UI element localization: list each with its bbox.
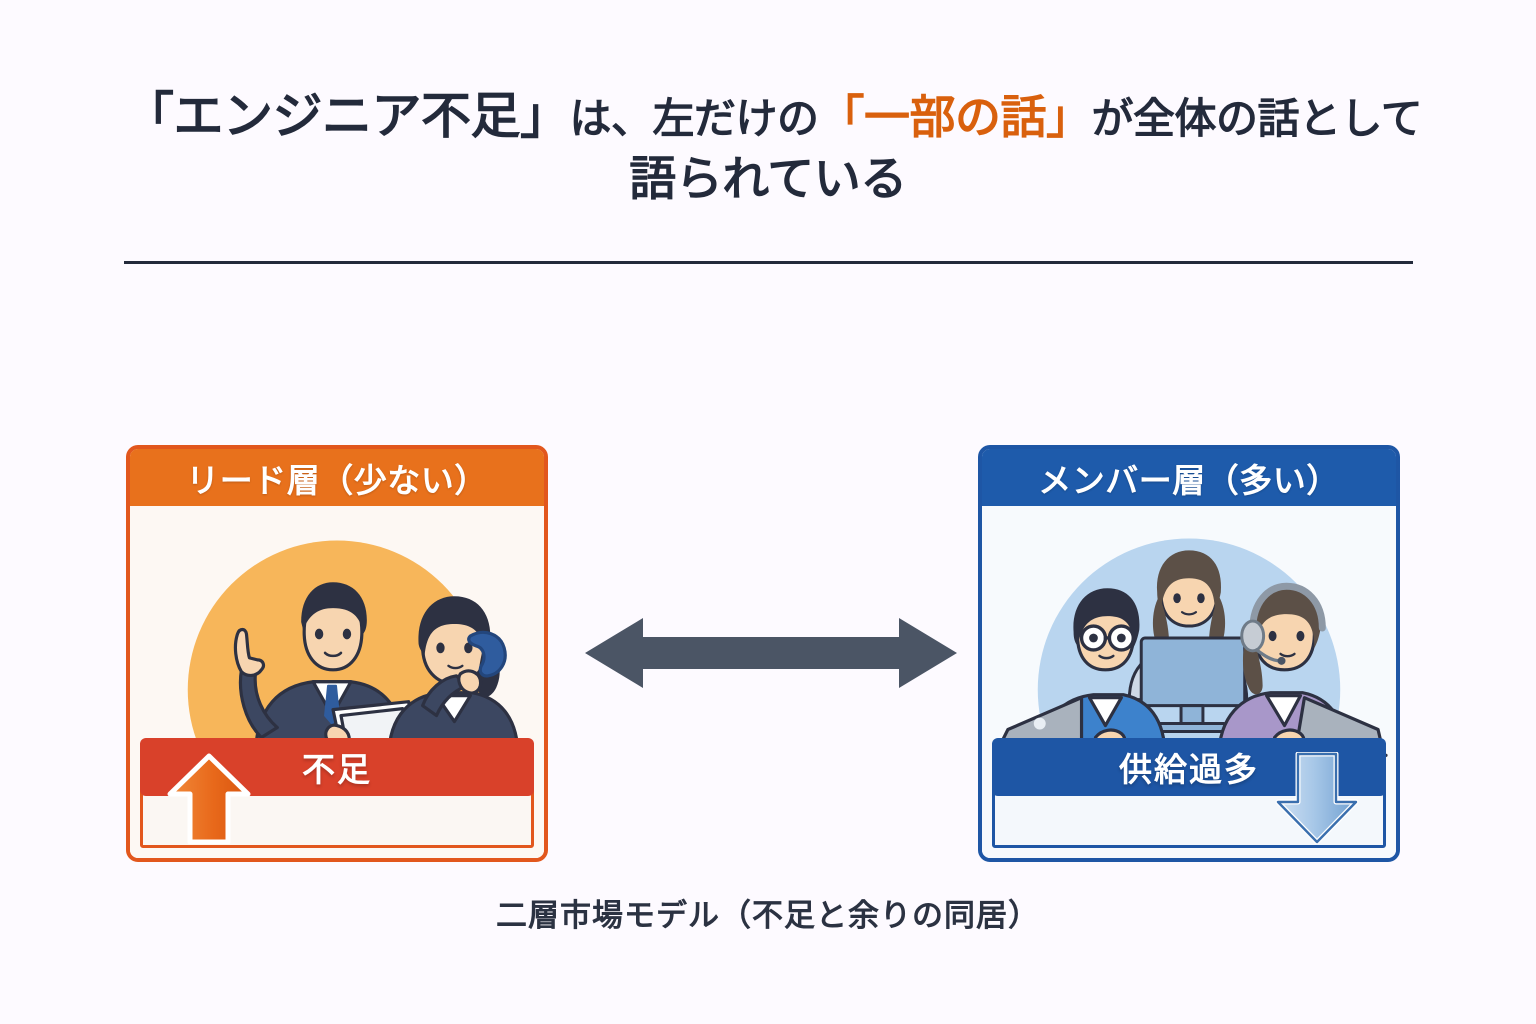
member-tier-body: 供給過多 [982,506,1396,858]
lead-tier-status-band: 不足 [140,738,534,848]
member-tier-card[interactable]: メンバー層（多い） [978,445,1400,862]
lead-tier-illustration [138,510,536,758]
member-tier-status-label: 供給過多 [992,738,1386,796]
title-quoted-term: 「エンジニア不足」 [124,88,570,144]
bidirectional-arrow-icon [585,612,957,694]
title-accent-term: 「一部の話」 [819,91,1092,143]
slide-canvas: 「エンジニア不足」は、左だけの「一部の話」が全体の話として 語られている リード… [0,0,1536,1024]
diagram-caption: 二層市場モデル（不足と余りの同居） [0,890,1536,935]
title-divider [124,261,1413,264]
title-line-2: 語られている [124,149,1412,209]
lead-tier-body: 不足 [130,506,544,858]
lead-tier-card[interactable]: リード層（少ない） [126,445,548,862]
member-tier-header: メンバー層（多い） [982,449,1396,506]
member-tier-status-band: 供給過多 [992,738,1386,848]
member-tier-illustration [990,510,1388,758]
page-title: 「エンジニア不足」は、左だけの「一部の話」が全体の話として 語られている [124,86,1412,209]
lead-tier-status-label: 不足 [140,738,534,796]
lead-tier-header: リード層（少ない） [130,449,544,506]
title-connector-2: が全体の話として [1092,95,1423,142]
title-line-1: 「エンジニア不足」は、左だけの「一部の話」が全体の話として [124,86,1412,149]
title-connector-1: は、左だけの [570,95,819,142]
